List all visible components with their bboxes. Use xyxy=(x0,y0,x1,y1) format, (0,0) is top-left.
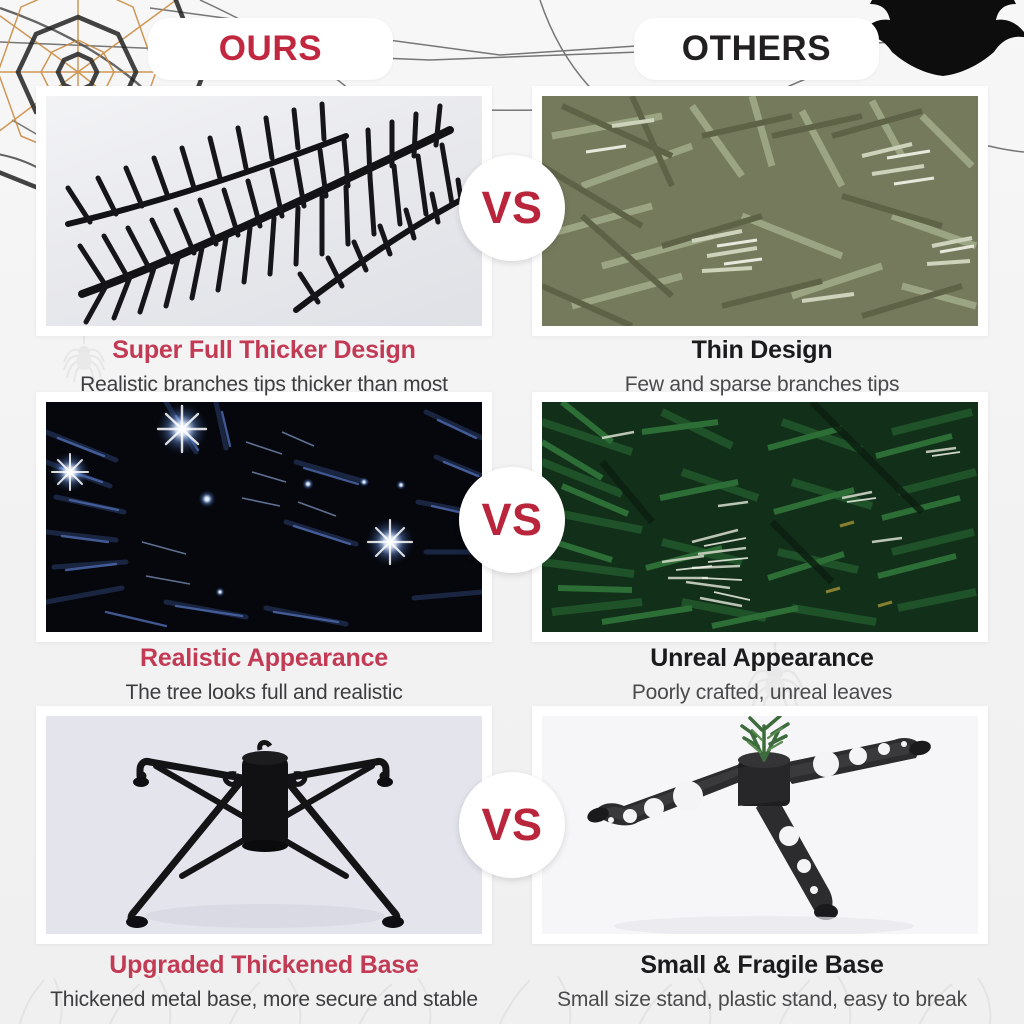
others-subtitle-1: Few and sparse branches tips xyxy=(527,372,997,397)
sparse-sage-branch-tips-photo xyxy=(542,96,978,326)
others-subtitle-3: Small size stand, plastic stand, easy to… xyxy=(527,987,997,1012)
ours-header-pill: OURS xyxy=(148,18,393,80)
stand-hub xyxy=(242,756,288,846)
others-photo-card-3 xyxy=(532,706,988,944)
ours-title-3: Upgraded Thickened Base xyxy=(29,951,499,980)
ours-subtitle-1: Realistic branches tips thicker than mos… xyxy=(29,372,499,397)
ours-label: OURS xyxy=(219,29,323,69)
ours-caption-2: Realistic Appearance The tree looks full… xyxy=(29,644,499,705)
vs-badge: VS xyxy=(459,467,565,573)
vs-label: VS xyxy=(481,799,542,851)
others-label: OTHERS xyxy=(682,29,831,69)
black-branch-tips-photo xyxy=(46,96,482,326)
ours-caption-3: Upgraded Thickened Base Thickened metal … xyxy=(29,951,499,1012)
black-metal-folding-stand-photo xyxy=(46,716,482,934)
ours-photo-card-1 xyxy=(36,86,492,336)
comparison-infographic: OURS OTHERS xyxy=(0,0,1024,1024)
ours-subtitle-3: Thickened metal base, more secure and st… xyxy=(29,987,499,1012)
ours-photo-card-3 xyxy=(36,706,492,944)
ours-title-2: Realistic Appearance xyxy=(29,644,499,673)
ours-caption-1: Super Full Thicker Design Realistic bran… xyxy=(29,336,499,397)
others-title-1: Thin Design xyxy=(527,336,997,365)
green-pvc-needles-photo xyxy=(542,402,978,632)
ours-photo-card-2 xyxy=(36,392,492,642)
others-caption-1: Thin Design Few and sparse branches tips xyxy=(527,336,997,397)
ours-subtitle-2: The tree looks full and realistic xyxy=(29,680,499,705)
others-title-3: Small & Fragile Base xyxy=(527,951,997,980)
black-tree-with-led-lights-photo xyxy=(46,402,482,632)
others-photo-card-1 xyxy=(532,86,988,336)
black-plastic-tripod-stand-photo xyxy=(542,716,978,934)
others-title-2: Unreal Appearance xyxy=(527,644,997,673)
others-caption-3: Small & Fragile Base Small size stand, p… xyxy=(527,951,997,1012)
vs-label: VS xyxy=(481,182,542,234)
others-caption-2: Unreal Appearance Poorly crafted, unreal… xyxy=(527,644,997,705)
vs-badge: VS xyxy=(459,155,565,261)
vs-badge: VS xyxy=(459,772,565,878)
others-header-pill: OTHERS xyxy=(634,18,879,80)
ours-title-1: Super Full Thicker Design xyxy=(29,336,499,365)
vs-label: VS xyxy=(481,494,542,546)
others-photo-card-2 xyxy=(532,392,988,642)
others-subtitle-2: Poorly crafted, unreal leaves xyxy=(527,680,997,705)
